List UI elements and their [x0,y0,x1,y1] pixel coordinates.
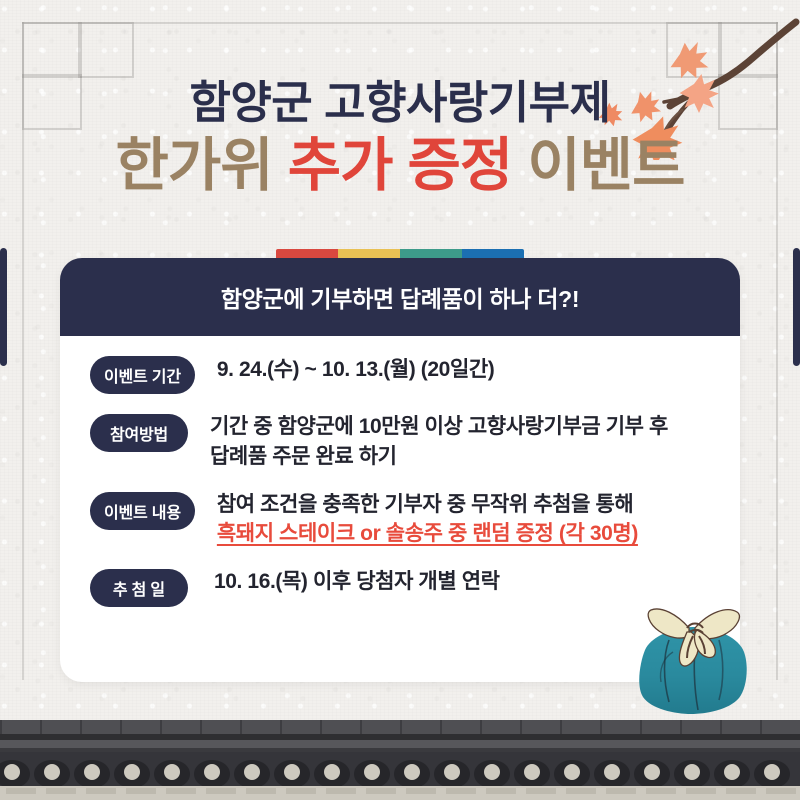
row-label-badge: 참여방법 [90,414,188,452]
row-content: 기간 중 함양군에 10만원 이상 고향사랑기부금 기부 후 답례품 주문 완료… [188,412,740,472]
lattice-corner-icon [78,22,134,78]
detail-row: 추첨일 10. 16.(목) 이후 당첨자 개별 연락 [60,567,740,607]
stripe-yellow-icon [338,249,400,258]
page-title: 한가위 추가 증정 이벤트 [0,137,800,195]
lattice-corner-icon [666,22,722,78]
row-label-badge: 이벤트 기간 [90,356,195,394]
page-subtitle: 함양군 고향사랑기부제 [0,80,800,125]
row-line-highlighted: 흑돼지 스테이크 or 솔송주 중 랜덤 증정 (각 30명) [217,519,740,549]
stripe-teal-icon [400,249,462,258]
lattice-corner-icon [22,22,82,78]
korean-roof-tiles-icon [0,720,800,800]
title-block: 함양군 고향사랑기부제 한가위 추가 증정 이벤트 [0,80,800,195]
lattice-corner-icon [718,22,778,78]
row-line: 9. 24.(수) ~ 10. 13.(월) (20일간) [217,355,740,385]
side-bar-left-decoration [0,248,7,366]
page-title-highlight: 추가 증정 [288,133,513,198]
row-line: 기간 중 함양군에 10만원 이상 고향사랑기부금 기부 후 [210,412,740,442]
content-card: 함양군에 기부하면 답례품이 하나 더?! 이벤트 기간 9. 24.(수) ~… [60,258,740,682]
row-label-badge: 이벤트 내용 [90,492,195,530]
page-title-part-2: 이벤트 [512,133,684,198]
row-line: 답례품 주문 완료 하기 [210,442,740,472]
detail-row: 참여방법 기간 중 함양군에 10만원 이상 고향사랑기부금 기부 후 답례품 … [60,412,740,472]
stripe-red-icon [276,249,338,258]
page-title-part-1: 한가위 [116,133,288,198]
poster-canvas: 함양군 고향사랑기부제 한가위 추가 증정 이벤트 함양군에 기부하면 답례품이… [0,0,800,800]
row-content: 참여 조건을 충족한 기부자 중 무작위 추첨을 통해 흑돼지 스테이크 or … [195,490,740,550]
stripe-blue-icon [462,249,524,258]
detail-row: 이벤트 내용 참여 조건을 충족한 기부자 중 무작위 추첨을 통해 흑돼지 스… [60,490,740,550]
row-line: 참여 조건을 충족한 기부자 중 무작위 추첨을 통해 [217,490,740,520]
card-header-text: 함양군에 기부하면 답례품이 하나 더?! [221,280,579,314]
row-label-badge: 추첨일 [90,569,188,607]
color-stripes-decoration [276,249,524,258]
row-line: 10. 16.(목) 이후 당첨자 개별 연락 [214,567,740,597]
row-content: 10. 16.(목) 이후 당첨자 개별 연락 [188,567,740,597]
frame-line-top-icon [22,22,778,24]
card-header-banner: 함양군에 기부하면 답례품이 하나 더?! [60,258,740,336]
row-content: 9. 24.(수) ~ 10. 13.(월) (20일간) [195,354,740,385]
side-bar-right-decoration [793,248,800,366]
detail-row: 이벤트 기간 9. 24.(수) ~ 10. 13.(월) (20일간) [60,354,740,394]
detail-rows: 이벤트 기간 9. 24.(수) ~ 10. 13.(월) (20일간) 참여방… [60,354,740,607]
